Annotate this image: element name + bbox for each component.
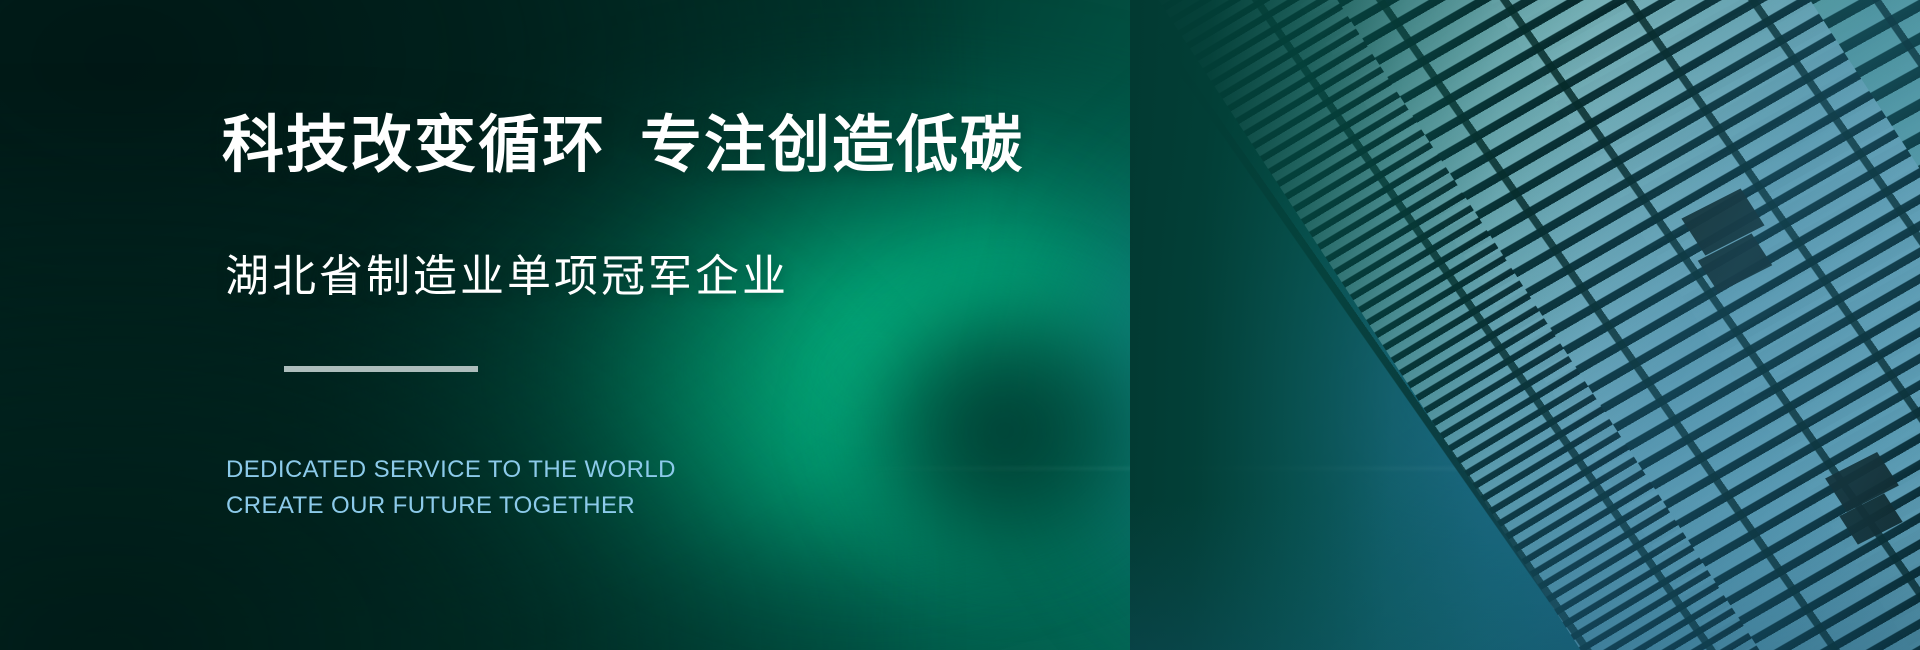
tagline-line-two: CREATE OUR FUTURE TOGETHER — [226, 488, 676, 524]
headline-part-one: 科技改变循环 — [222, 111, 606, 180]
divider-rule — [284, 366, 478, 372]
banner-copy: 科技改变循环专注创造低碳 湖北省制造业单项冠军企业 DEDICATED SERV… — [222, 0, 1122, 650]
building-bottom-feather — [1130, 500, 1920, 650]
banner-headline: 科技改变循环专注创造低碳 — [222, 108, 1024, 184]
tagline-line-one: DEDICATED SERVICE TO THE WORLD — [226, 452, 676, 488]
banner-tagline: DEDICATED SERVICE TO THE WORLD CREATE OU… — [226, 452, 676, 524]
headline-part-two: 专注创造低碳 — [640, 111, 1024, 180]
hero-banner: 科技改变循环专注创造低碳 湖北省制造业单项冠军企业 DEDICATED SERV… — [0, 0, 1920, 650]
building-facade-image — [1130, 0, 1920, 650]
banner-subheadline: 湖北省制造业单项冠军企业 — [225, 248, 789, 306]
